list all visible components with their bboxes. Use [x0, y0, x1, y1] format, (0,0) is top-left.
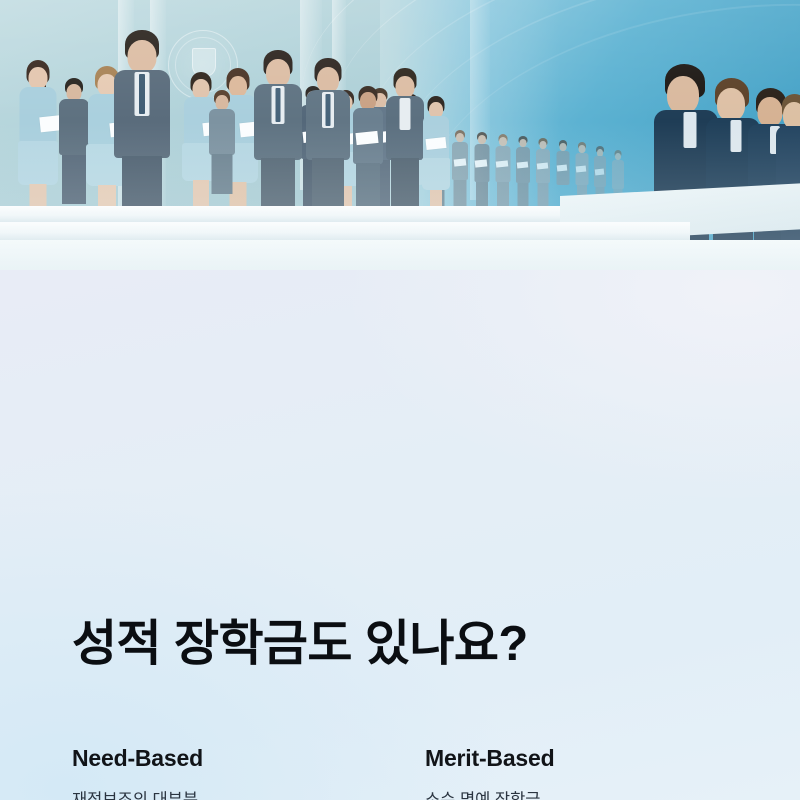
person-front-11 — [386, 68, 424, 216]
person-front-主-speaker — [114, 30, 170, 230]
person-front-7 — [208, 90, 236, 194]
column-subtitle-need-based: 재정보조의 대부분 — [72, 771, 402, 800]
column-heading-need-based: Need-Based — [72, 745, 402, 771]
stage-step-lower — [0, 240, 800, 270]
person-back-5 — [516, 136, 530, 214]
person-front-12 — [422, 96, 450, 214]
column-heading-merit-based: Merit-Based — [425, 745, 765, 771]
person-front-1 — [18, 60, 58, 212]
stage-step-upper — [0, 206, 560, 222]
page-title: 성적 장학금도 있나요? — [72, 618, 528, 672]
person-back-2 — [452, 130, 468, 214]
person-back-4 — [495, 134, 510, 214]
stage-step-middle — [0, 222, 690, 240]
infographic-card: 성적 장학금도 있나요? Need-Based 재정보조의 대부분 가정 형편 … — [0, 0, 800, 800]
content-panel: 성적 장학금도 있나요? Need-Based 재정보조의 대부분 가정 형편 … — [0, 270, 800, 800]
column-subtitle-merit-based: 소수 명예 장학금 — [425, 771, 765, 800]
column-merit-based: Merit-Based 소수 명예 장학금 Robertson Scholars… — [425, 745, 765, 800]
graduation-ceremony-photo — [0, 0, 800, 270]
person-back-3 — [474, 132, 489, 214]
person-front-9 — [306, 58, 350, 216]
ceremony-scene — [0, 0, 800, 270]
person-front-8 — [254, 50, 302, 222]
person-back-6 — [536, 138, 550, 214]
person-front-10 — [352, 86, 384, 214]
column-need-based: Need-Based 재정보조의 대부분 가정 형편 기준 성적 무관 필요액 … — [72, 745, 402, 800]
